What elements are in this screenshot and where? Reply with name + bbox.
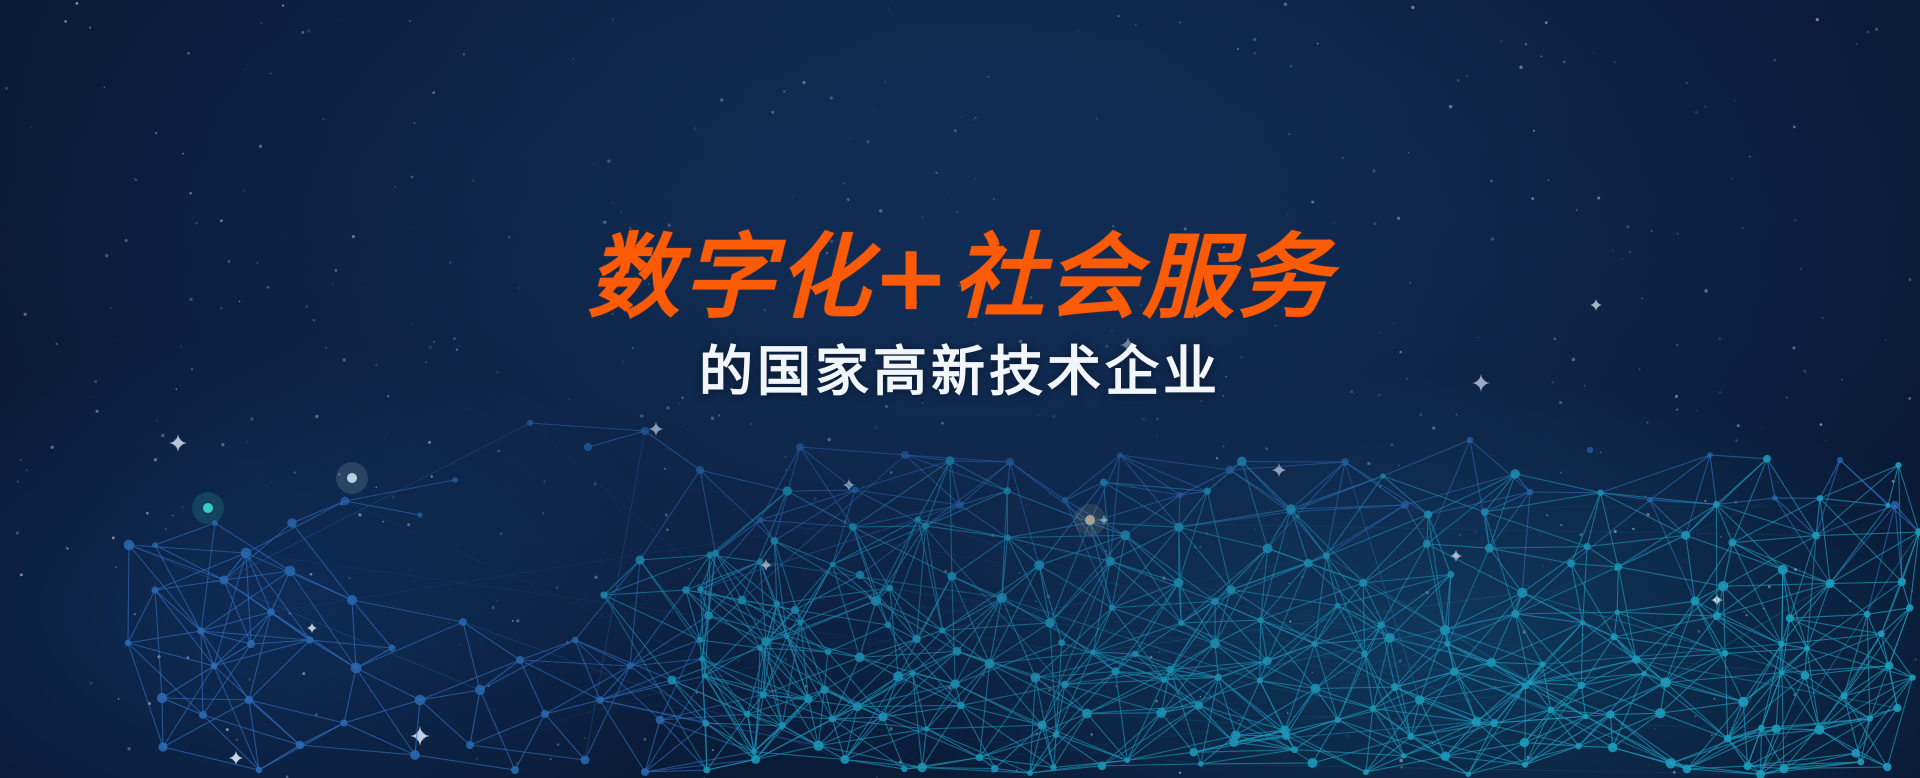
- hero-banner: 数字化+社会服务 的国家高新技术企业: [0, 0, 1920, 778]
- page-subtitle: 的国家高新技术企业: [0, 338, 1920, 404]
- page-title: 数字化+社会服务: [0, 228, 1920, 328]
